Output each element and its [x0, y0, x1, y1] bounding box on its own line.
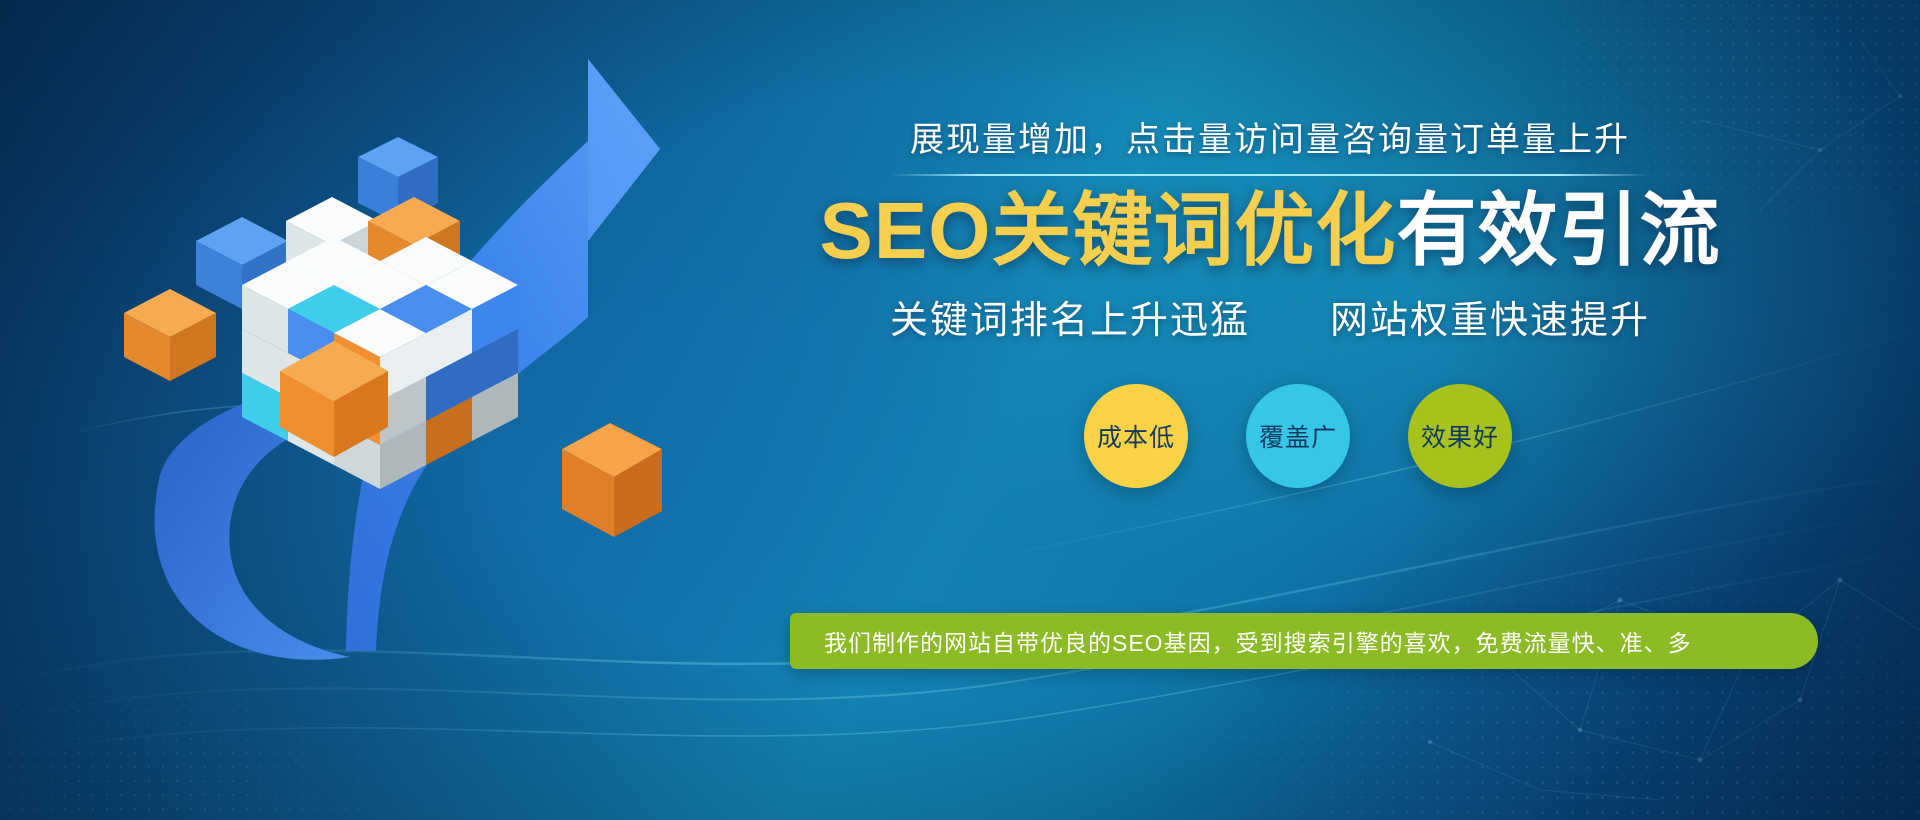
badge-cost: 成本低	[1084, 384, 1188, 488]
tagline-text: 展现量增加，点击量访问量咨询量订单量上升	[700, 120, 1840, 161]
bottom-ribbon: 我们制作的网站自带优良的SEO基因，受到搜索引擎的喜欢，免费流量快、准、多	[790, 613, 1818, 669]
illustration-svg	[90, 45, 730, 705]
seo-promo-banner: 展现量增加，点击量访问量咨询量订单量上升 SEO关键词优化有效引流 关键词排名上…	[0, 0, 1920, 820]
cubie-detached-orange-left	[124, 289, 216, 381]
headline: SEO关键词优化有效引流	[700, 186, 1840, 276]
headline-white-part: 有效引流	[1396, 186, 1720, 275]
ribbon-text: 我们制作的网站自带优良的SEO基因，受到搜索引擎的喜欢，免费流量快、准、多	[824, 624, 1692, 658]
badge-coverage: 覆盖广	[1246, 384, 1350, 488]
feature-badges: 成本低 覆盖广 效果好	[700, 384, 1840, 488]
floating-orange-cube	[562, 423, 662, 537]
seo-growth-illustration	[90, 45, 730, 705]
divider-rule	[890, 174, 1650, 176]
arrow-head-highlight	[588, 59, 660, 241]
badge-effect: 效果好	[1408, 384, 1512, 488]
headline-gold-part: SEO关键词优化	[820, 186, 1397, 275]
subline-text: 关键词排名上升迅猛 网站权重快速提升	[700, 289, 1840, 344]
banner-content: 展现量增加，点击量访问量咨询量订单量上升 SEO关键词优化有效引流 关键词排名上…	[700, 120, 1840, 488]
